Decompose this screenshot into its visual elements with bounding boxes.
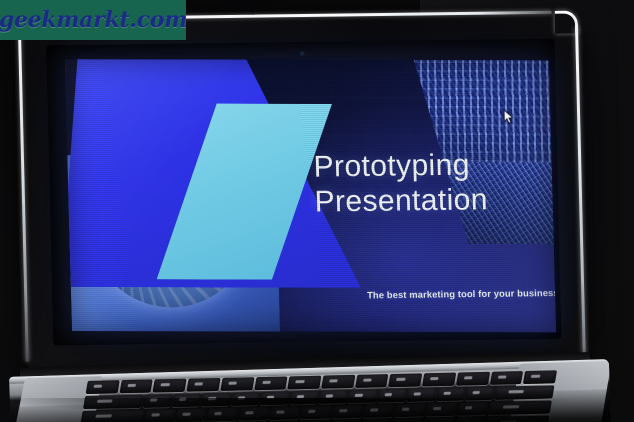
keyboard-key[interactable]	[187, 378, 221, 392]
watermark-text: geekmarkt.com	[0, 7, 186, 33]
screenshot-canvas: Prototyping Presentation The best market…	[0, 0, 634, 422]
keyboard-key[interactable]	[389, 373, 423, 387]
presentation-slide[interactable]: Prototyping Presentation The best market…	[65, 59, 557, 332]
webcam-icon	[301, 52, 304, 55]
keyboard-key[interactable]	[86, 380, 120, 394]
keyboard-key[interactable]	[422, 373, 456, 387]
keyboard-key[interactable]	[321, 375, 355, 389]
slide-title-line-1: Prototyping	[313, 147, 544, 185]
keyboard-key[interactable]	[153, 379, 187, 393]
slide-title-line-2: Presentation	[314, 182, 545, 220]
keyboard-key[interactable]	[456, 372, 490, 386]
keyboard-key[interactable]	[523, 370, 557, 384]
keyboard-key[interactable]	[355, 374, 389, 388]
keyboard-key[interactable]	[254, 376, 288, 390]
laptop-screen[interactable]: Prototyping Presentation The best market…	[65, 59, 557, 332]
keyboard-key[interactable]	[119, 379, 153, 393]
keyboard-key[interactable]	[220, 377, 254, 391]
keyboard-key[interactable]	[490, 371, 524, 385]
watermark-badge: geekmarkt.com	[0, 0, 186, 40]
laptop-cast-shadow	[0, 398, 634, 422]
mouse-cursor-arrow-icon	[504, 110, 513, 123]
keyboard-key[interactable]	[288, 376, 322, 390]
laptop-lid: Prototyping Presentation The best market…	[20, 12, 584, 371]
laptop-device: Prototyping Presentation The best market…	[0, 0, 634, 422]
slide-title: Prototyping Presentation	[313, 147, 545, 221]
lid-corner-top-right	[555, 10, 579, 33]
